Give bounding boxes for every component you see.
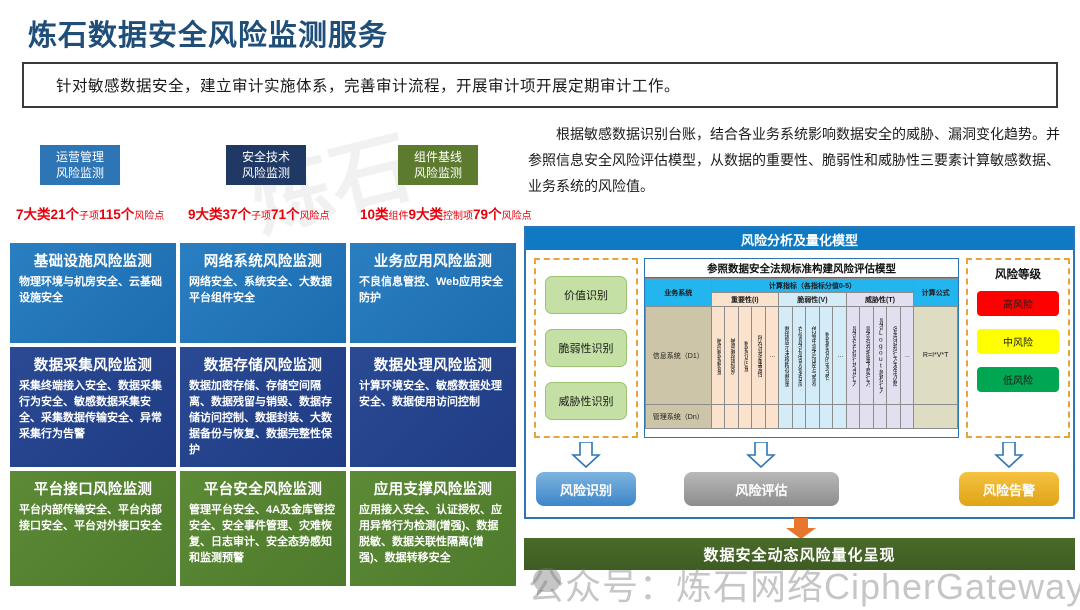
th-group-importance: 重要性(I) <box>711 293 779 307</box>
card-desc: 网络安全、系统安全、大数据平台组件安全 <box>189 275 337 307</box>
card-title: 网络系统风险监测 <box>189 250 337 271</box>
stat-part: 风险点 <box>300 211 330 222</box>
ident-value[interactable]: 价值识别 <box>545 276 627 314</box>
arrow-down-icon <box>746 442 776 468</box>
table-caption: 参照数据安全法规标准构建风险评估模型 <box>645 259 958 278</box>
col-v-1: 数据展示未模糊化数量 <box>779 307 793 405</box>
vert-label: 敏感数据数量 <box>714 312 721 400</box>
red-stat-security-tech: 9大类37个子项71个风险点 <box>188 203 330 223</box>
vert-label: 传输中是否加密与难易 <box>809 312 816 400</box>
stat-part: 71个 <box>271 207 300 222</box>
col-i-5: … <box>765 307 779 405</box>
arrow-down-icon <box>994 442 1024 468</box>
cell-formula-empty <box>914 405 958 429</box>
risk-model-panel: 风险分析及量化模型 价值识别 脆弱性识别 威胁性识别 参照数据安全法规标准构建风… <box>524 226 1075 519</box>
bottom-summary-bar: 数据安全动态风险量化呈现 <box>524 538 1075 570</box>
th-business-system: 业务系统 <box>646 279 712 307</box>
chip-line1: 运营管理 <box>56 149 104 165</box>
card-data-processing-risk[interactable]: 数据处理风险监测 计算环境安全、敏感数据处理安全、数据使用访问控制 <box>350 347 516 467</box>
stat-part: 控制项 <box>443 211 473 222</box>
model-panel-body: 价值识别 脆弱性识别 威胁性识别 参照数据安全法规标准构建风险评估模型 业务系统… <box>526 250 1073 519</box>
card-data-storage-risk[interactable]: 数据存储风险监测 数据加密存储、存储空间隔离、数据残留与销毁、数据存储访问控制、… <box>180 347 346 467</box>
vert-label: … <box>836 312 843 400</box>
card-application-support-risk[interactable]: 应用支撑风险监测 应用接入安全、认证授权、应用异常行为检测(增强)、数据脱敏、数… <box>350 471 516 586</box>
cell <box>752 405 766 429</box>
cell <box>819 405 833 429</box>
chip-security-technology[interactable]: 安全技术 风险监测 <box>226 145 306 185</box>
arrow-down-orange-icon <box>784 518 818 540</box>
chip-operations-management[interactable]: 运营管理 风险监测 <box>40 145 120 185</box>
arrow-down-icon <box>571 442 601 468</box>
stat-part: 9大类37个 <box>188 207 251 222</box>
chip-line2: 风险监测 <box>414 165 462 181</box>
wechat-icon <box>533 568 561 592</box>
cell <box>887 405 901 429</box>
cell <box>779 405 793 429</box>
col-t-2: 是否存在批量下载行为 <box>860 307 874 405</box>
card-data-collection-risk[interactable]: 数据采集风险监测 采集终端接入安全、数据采集行为安全、敏感数据采集安全、采集数据… <box>10 347 176 467</box>
risk-monitoring-card-grid: 基础设施风险监测 物理环境与机房安全、云基础设施安全 网络系统风险监测 网络安全… <box>10 243 518 588</box>
stage-risk-assessment[interactable]: 风险评估 <box>684 472 839 506</box>
col-v-4: 数据载体的安全性 <box>819 307 833 405</box>
vert-label: 是否存在批量下载行为 <box>863 312 870 400</box>
cell <box>806 405 820 429</box>
vert-label: 数据载体的安全性 <box>822 312 829 400</box>
cell <box>792 405 806 429</box>
card-desc: 物理环境与机房安全、云基础设施安全 <box>19 275 167 307</box>
vert-label: … <box>904 312 911 400</box>
red-stat-component-baseline: 10类组件9大类控制项79个风险点 <box>360 203 532 223</box>
vert-label: … <box>768 312 775 400</box>
stat-part: 7大类21个 <box>16 207 79 222</box>
card-network-system-risk[interactable]: 网络系统风险监测 网络安全、系统安全、大数据平台组件安全 <box>180 243 346 343</box>
stage-risk-alert[interactable]: 风险告警 <box>959 472 1059 506</box>
vert-label: 敏感数据级别 <box>728 312 735 400</box>
cell <box>860 405 874 429</box>
cell <box>765 405 779 429</box>
cell <box>738 405 752 429</box>
table-row: 业务系统 计算指标（各指标分值0-5） 计算公式 <box>646 279 958 293</box>
cell <box>725 405 739 429</box>
col-i-4: 所在业务重要性 <box>752 307 766 405</box>
legend-medium-risk: 中风险 <box>977 329 1059 354</box>
th-group-threat: 威胁性(T) <box>846 293 914 307</box>
card-desc: 数据加密存储、存储空间隔离、数据残留与销毁、数据存储访问控制、数据封装、大数据备… <box>189 379 337 459</box>
card-title: 平台安全风险监测 <box>189 478 337 499</box>
col-i-3: 数据访问量 <box>738 307 752 405</box>
subtitle-box: 针对敏感数据安全，建立审计实施体系，完善审计流程，开展审计项开展定期审计工作。 <box>22 62 1058 108</box>
subtitle-text: 针对敏感数据安全，建立审计实施体系，完善审计流程，开展审计项开展定期审计工作。 <box>24 74 680 96</box>
col-v-3: 传输中是否加密与难易 <box>806 307 820 405</box>
cell <box>846 405 860 429</box>
ident-threat[interactable]: 威胁性识别 <box>545 382 627 420</box>
card-desc: 应用接入安全、认证授权、应用异常行为检测(增强)、数据脱敏、数据关联性隔离(增强… <box>359 503 507 567</box>
th-formula: 计算公式 <box>914 279 958 307</box>
cell <box>711 405 725 429</box>
page-title: 炼石数据安全风险监测服务 <box>28 12 388 54</box>
card-title: 业务应用风险监测 <box>359 250 507 271</box>
card-desc: 采集终端接入安全、数据采集行为安全、敏感数据采集安全、采集数据传输安全、异常采集… <box>19 379 167 443</box>
table-row: 信息系统（D1） 敏感数据数量 敏感数据级别 数据访问量 所在业务重要性 … 数… <box>646 307 958 405</box>
card-title: 应用支撑风险监测 <box>359 478 507 499</box>
th-metrics: 计算指标（各指标分值0-5） <box>711 279 914 293</box>
card-title: 平台接口风险监测 <box>19 478 167 499</box>
row-label-d1: 信息系统（D1） <box>646 307 712 405</box>
chip-component-baseline[interactable]: 组件基线 风险监测 <box>398 145 478 185</box>
col-i-2: 敏感数据级别 <box>725 307 739 405</box>
card-desc: 不良信息管控、Web应用安全防护 <box>359 275 507 307</box>
chip-line2: 风险监测 <box>56 165 104 181</box>
chip-line1: 组件基线 <box>414 149 462 165</box>
card-desc: 管理平台安全、4A及金库管控安全、安全事件管理、灾难恢复、日志审计、安全态势感知… <box>189 503 337 567</box>
cell <box>873 405 887 429</box>
col-t-4: 各类违规行为发生次数 <box>887 307 901 405</box>
th-group-vulnerability: 脆弱性(V) <box>779 293 847 307</box>
card-business-application-risk[interactable]: 业务应用风险监测 不良信息管控、Web应用安全防护 <box>350 243 516 343</box>
cell <box>900 405 914 429</box>
card-title: 数据采集风险监测 <box>19 354 167 375</box>
col-t-3: 是否Logout越权行为 <box>873 307 887 405</box>
col-v-2: 存储是否加密及复杂度 <box>792 307 806 405</box>
stat-part: 风险点 <box>134 211 164 222</box>
stat-part: 子项 <box>79 211 99 222</box>
stat-part: 10类 <box>360 207 389 222</box>
col-t-1: 是否存在绕行攻击行为 <box>846 307 860 405</box>
col-t-5: … <box>900 307 914 405</box>
stat-part: 79个 <box>473 207 502 222</box>
identification-column: 价值识别 脆弱性识别 威胁性识别 <box>534 258 638 438</box>
vert-label: 数据展示未模糊化数量 <box>782 312 789 400</box>
cell <box>833 405 847 429</box>
legend-title: 风险等级 <box>995 266 1041 282</box>
card-platform-security-risk[interactable]: 平台安全风险监测 管理平台安全、4A及金库管控安全、安全事件管理、灾难恢复、日志… <box>180 471 346 586</box>
vert-label: 是否存在绕行攻击行为 <box>850 312 857 400</box>
stat-part: 风险点 <box>502 211 532 222</box>
table-row: 管理系统（Dn） <box>646 405 958 429</box>
legend-low-risk: 低风险 <box>977 367 1059 392</box>
vert-label: 数据访问量 <box>741 312 748 400</box>
stat-part: 组件 <box>389 211 409 222</box>
chip-line2: 风险监测 <box>242 165 290 181</box>
card-infrastructure-risk[interactable]: 基础设施风险监测 物理环境与机房安全、云基础设施安全 <box>10 243 176 343</box>
risk-assessment-table-wrap: 参照数据安全法规标准构建风险评估模型 业务系统 计算指标（各指标分值0-5） 计… <box>644 258 959 438</box>
vert-label: 是否Logout越权行为 <box>877 312 884 400</box>
vert-label: 所在业务重要性 <box>755 312 762 400</box>
col-v-5: … <box>833 307 847 405</box>
stage-risk-identification[interactable]: 风险识别 <box>536 472 636 506</box>
vert-label: 各类违规行为发生次数 <box>890 312 897 400</box>
stat-part: 子项 <box>251 211 271 222</box>
col-i-1: 敏感数据数量 <box>711 307 725 405</box>
card-title: 数据存储风险监测 <box>189 354 337 375</box>
intro-paragraph: 根据敏感数据识别台账，结合各业务系统影响数据安全的威胁、漏洞变化趋势。并参照信息… <box>528 122 1073 200</box>
risk-assessment-table: 业务系统 计算指标（各指标分值0-5） 计算公式 重要性(I) 脆弱性(V) 威… <box>645 278 958 429</box>
row-label-dn: 管理系统（Dn） <box>646 405 712 429</box>
card-platform-interface-risk[interactable]: 平台接口风险监测 平台内部传输安全、平台内部接口安全、平台对外接口安全 <box>10 471 176 586</box>
card-title: 数据处理风险监测 <box>359 354 507 375</box>
ident-vulnerability[interactable]: 脆弱性识别 <box>545 329 627 367</box>
card-title: 基础设施风险监测 <box>19 250 167 271</box>
card-desc: 计算环境安全、敏感数据处理安全、数据使用访问控制 <box>359 379 507 411</box>
vert-label: 存储是否加密及复杂度 <box>795 312 802 400</box>
stat-part: 115个 <box>99 207 134 222</box>
stat-part: 9大类 <box>409 207 444 222</box>
chip-line1: 安全技术 <box>242 149 290 165</box>
red-stat-operations: 7大类21个子项115个风险点 <box>16 203 164 223</box>
cell-formula: R=I*V*T <box>914 307 958 405</box>
model-panel-header: 风险分析及量化模型 <box>526 228 1073 250</box>
card-desc: 平台内部传输安全、平台内部接口安全、平台对外接口安全 <box>19 503 167 535</box>
legend-high-risk: 高风险 <box>977 291 1059 316</box>
risk-level-legend: 风险等级 高风险 中风险 低风险 <box>966 258 1070 438</box>
